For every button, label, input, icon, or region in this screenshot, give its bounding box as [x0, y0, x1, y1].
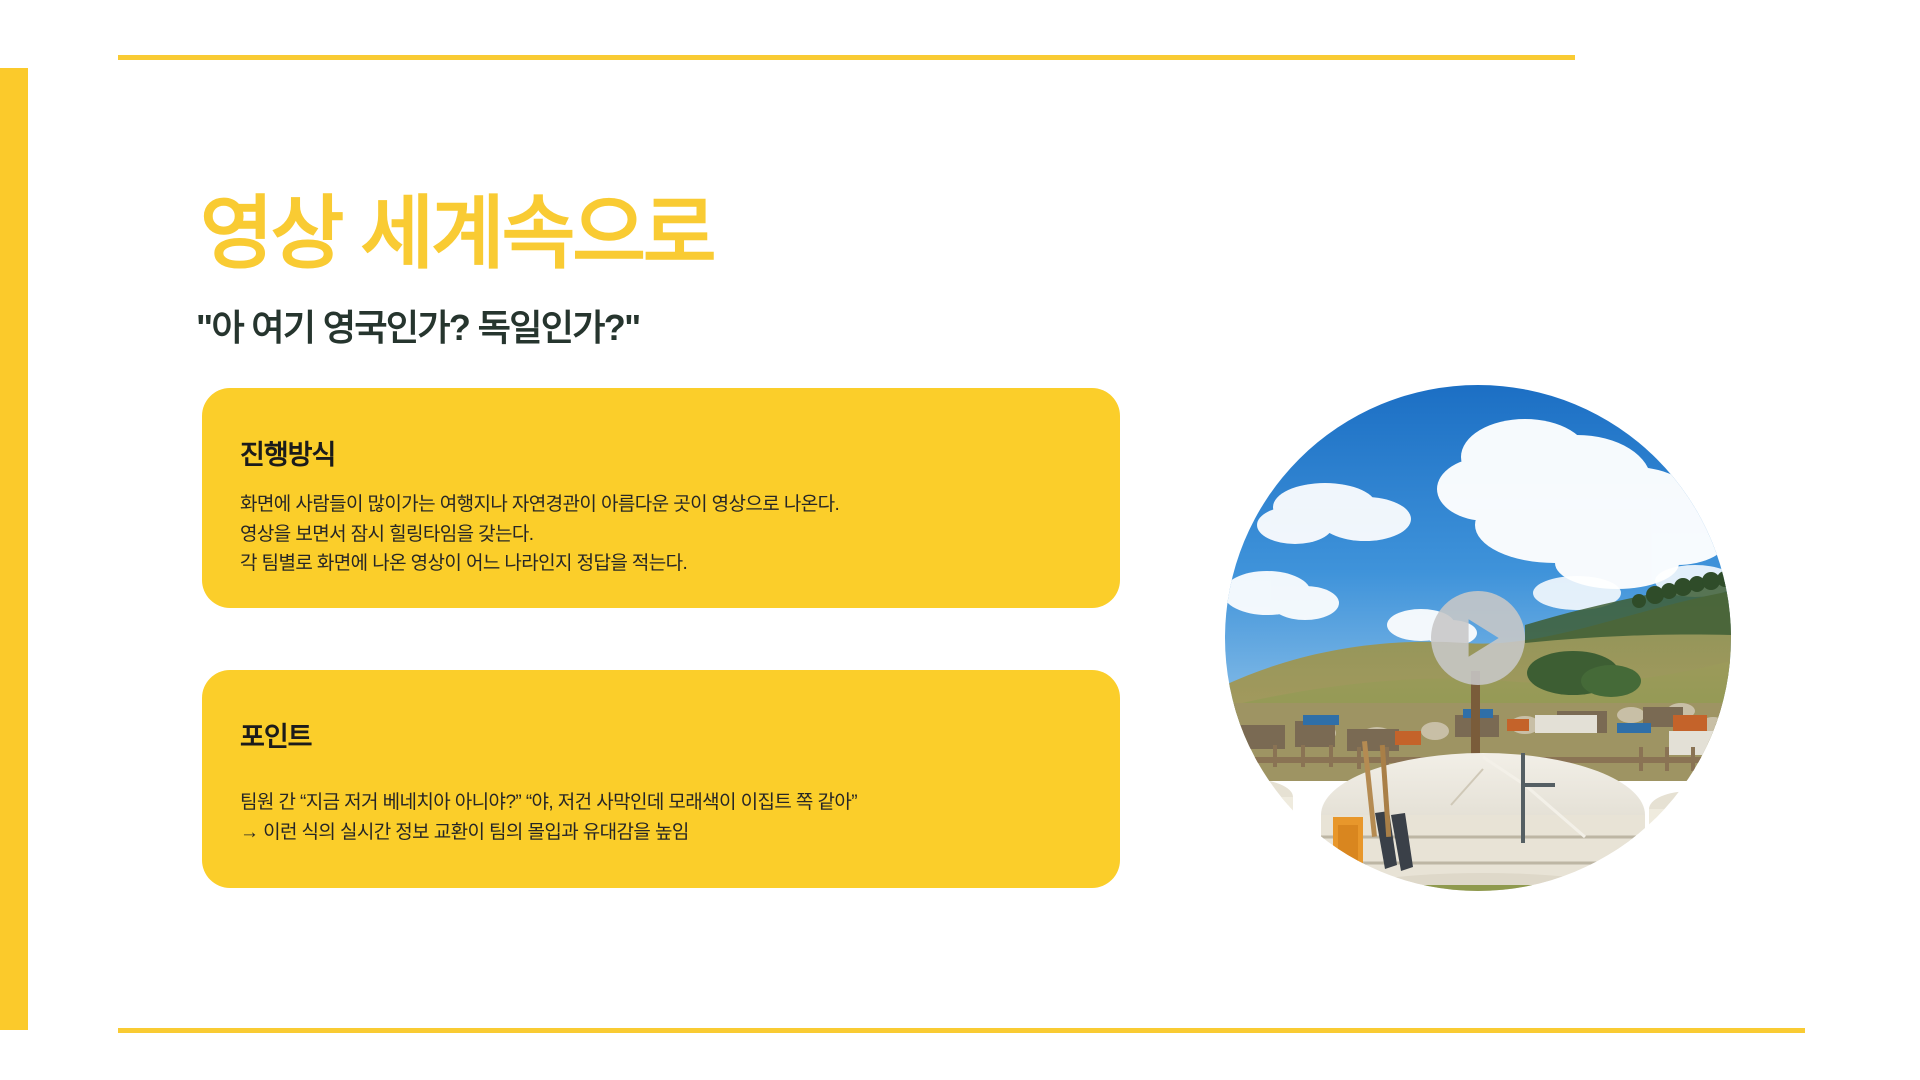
method-card-line: 영상을 보면서 잠시 힐링타임을 갖는다. [240, 520, 1120, 550]
play-icon [1431, 591, 1525, 685]
method-card: 진행방식 화면에 사람들이 많이가는 여행지나 자연경관이 아름다운 곳이 영상… [202, 388, 1120, 608]
page-title: 영상 세계속으로 [200, 192, 713, 277]
method-card-line: 각 팀별로 화면에 나온 영상이 어느 나라인지 정답을 적는다. [240, 549, 1120, 579]
method-card-line: 화면에 사람들이 많이가는 여행지나 자연경관이 아름다운 곳이 영상으로 나온… [240, 490, 1120, 520]
page-subtitle: "아 여기 영국인가? 독일인가?" [196, 307, 640, 348]
slide-root: 영상 세계속으로 "아 여기 영국인가? 독일인가?" 진행방식 화면에 사람들… [0, 0, 1920, 1080]
video-thumbnail[interactable] [1225, 385, 1731, 891]
point-card-line: → 이런 식의 실시간 정보 교환이 팀의 몰입과 유대감을 높임 [240, 818, 1120, 848]
bottom-divider-rule [118, 1028, 1805, 1033]
method-card-heading: 진행방식 [240, 433, 1120, 472]
left-accent-bar [0, 68, 28, 1030]
point-card-line: 팀원 간 “지금 저거 베네치아 아니야?” “야, 저건 사막인데 모래색이 … [240, 788, 1120, 818]
point-card-heading: 포인트 [240, 715, 1120, 754]
top-divider-rule [118, 55, 1575, 60]
play-button[interactable] [1431, 591, 1525, 685]
point-card: 포인트 팀원 간 “지금 저거 베네치아 아니야?” “야, 저건 사막인데 모… [202, 670, 1120, 888]
